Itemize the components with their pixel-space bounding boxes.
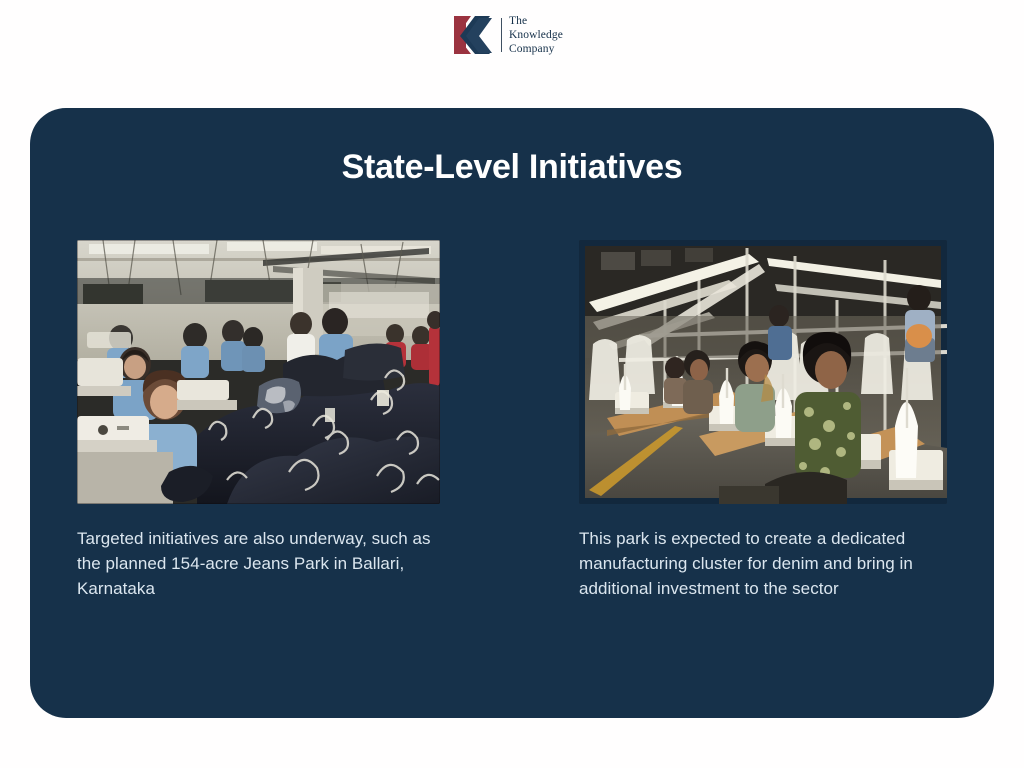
logo-line-1: The xyxy=(509,14,563,28)
column-right: This park is expected to create a dedica… xyxy=(579,240,947,602)
logo-line-2: Knowledge xyxy=(509,28,563,42)
k-chevron-logo-icon xyxy=(452,12,494,58)
garment-factory-sewing-dark-apparel-photo xyxy=(77,240,440,504)
column-left: Targeted initiatives are also underway, … xyxy=(77,240,440,602)
logo-wordmark: The Knowledge Company xyxy=(509,14,563,56)
content-panel: State-Level Initiatives xyxy=(30,108,994,718)
slide-canvas: The Knowledge Company State-Level Initia… xyxy=(0,0,1024,768)
two-column-layout: Targeted initiatives are also underway, … xyxy=(77,240,947,602)
caption-left: Targeted initiatives are also underway, … xyxy=(77,527,440,602)
garment-factory-assembly-line-photo xyxy=(579,240,947,504)
logo-line-3: Company xyxy=(509,42,563,56)
logo-divider xyxy=(501,18,502,52)
page-title: State-Level Initiatives xyxy=(30,148,994,187)
brand-logo: The Knowledge Company xyxy=(452,12,563,58)
caption-right: This park is expected to create a dedica… xyxy=(579,527,947,602)
